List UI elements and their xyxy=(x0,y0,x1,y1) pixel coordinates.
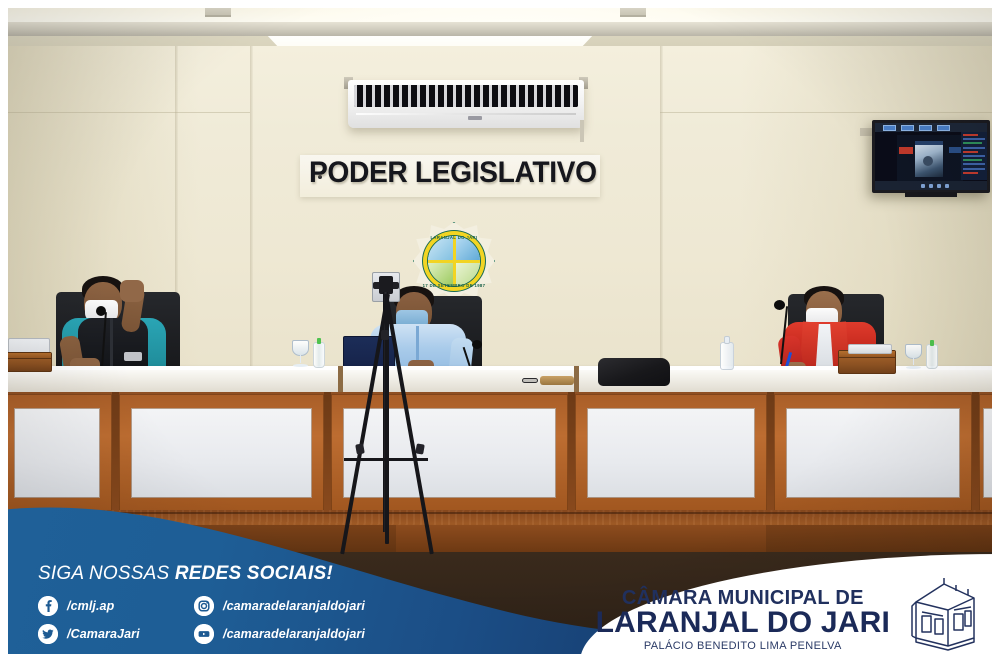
bench-panel xyxy=(979,394,1000,514)
desk-seam-2 xyxy=(574,366,579,394)
wine-glass-center xyxy=(292,340,309,367)
crest-cross-horizontal xyxy=(428,260,480,263)
bench-panel-divider xyxy=(972,392,979,516)
wall-monitor xyxy=(872,120,990,193)
water-bottle-center xyxy=(313,342,325,368)
poder-legislativo-sign: PODER LEGISLATIVO xyxy=(300,155,600,197)
control-button xyxy=(921,184,925,188)
sidebar-line xyxy=(963,172,978,174)
brand-text: CÂMARA MUNICIPAL DE LARANJAL DO JARI PAL… xyxy=(596,588,890,652)
wall-seam-2 xyxy=(660,46,663,396)
air-conditioner xyxy=(348,80,584,128)
brand-block: CÂMARA MUNICIPAL DE LARANJAL DO JARI PAL… xyxy=(596,576,982,652)
bench-panel xyxy=(2,394,112,514)
videocall-name-bar xyxy=(915,141,943,145)
videocall-thumbnail xyxy=(883,125,896,131)
bench-panel-face xyxy=(14,408,100,498)
brand-line-3: PALÁCIO BENEDITO LIMA PENELVA xyxy=(596,640,890,652)
videocall-sidebar xyxy=(961,132,987,180)
glass-stem xyxy=(300,355,302,363)
bottle-cap xyxy=(930,340,934,346)
person-left-hand xyxy=(120,280,144,302)
bottle-cap xyxy=(317,338,321,344)
tripod-leg-lock xyxy=(355,443,365,454)
sidebar-line xyxy=(963,142,982,144)
control-button xyxy=(937,184,941,188)
microphone-right-head xyxy=(774,300,785,310)
twitter-handle: /CamaraJari xyxy=(67,627,140,641)
twitter-icon xyxy=(38,624,58,644)
instagram-handle: /camaradelaranjaldojari xyxy=(223,599,365,613)
person-left-vest-logo xyxy=(124,352,142,361)
hand-sanitizer xyxy=(720,342,734,370)
tripod-leg-spreader xyxy=(344,458,428,461)
videocall-thumbnail xyxy=(901,125,914,131)
social-heading-light: SIGA NOSSAS xyxy=(38,563,175,584)
facebook-handle: /cmlj.ap xyxy=(67,599,114,613)
microphone-left-head xyxy=(96,306,106,316)
bench-panel-divider xyxy=(112,392,119,516)
bench-step-left xyxy=(0,525,396,555)
social-row-1: /cmlj.ap /camaradelaranjaldojari xyxy=(38,596,468,616)
sanitizer-pump xyxy=(724,336,730,344)
bench-panel-divider xyxy=(568,392,575,516)
nameplate-block-left xyxy=(0,352,52,372)
sidebar-line xyxy=(963,147,985,149)
ac-body-seam xyxy=(356,113,576,115)
ac-display-panel xyxy=(468,116,482,120)
bench-panel-divider xyxy=(767,392,774,516)
bench-step-right xyxy=(766,525,1000,555)
wall-band-left xyxy=(0,112,250,113)
instagram-icon xyxy=(194,596,214,616)
bench-panel-divider xyxy=(324,392,331,516)
sign-text: PODER LEGISLATIVO xyxy=(309,156,591,190)
brand-line-2: LARANJAL DO JARI xyxy=(596,608,890,639)
bench-panel-face xyxy=(983,408,996,498)
tripod-column-lock xyxy=(381,330,389,340)
glass-stem xyxy=(913,358,915,366)
social-row-2: /CamaraJari /camaradelaranjaldojari xyxy=(38,624,468,644)
glass-foot xyxy=(293,364,307,367)
bench-panel-face xyxy=(343,408,556,498)
black-bag xyxy=(598,358,670,386)
videocall-thumbnail xyxy=(937,125,950,131)
sidebar-line xyxy=(963,168,985,170)
videocall-person-head xyxy=(923,156,933,166)
desk-seam-1 xyxy=(338,366,343,394)
photo-banner: PODER LEGISLATIVO LARANJAL DO JARI 17 DE… xyxy=(0,0,1000,662)
ac-vent xyxy=(354,85,578,107)
glass-bowl xyxy=(905,344,922,359)
tv-mount-arm xyxy=(905,192,957,197)
sidebar-line xyxy=(963,151,978,153)
sidebar-line xyxy=(963,134,978,136)
youtube-icon xyxy=(194,624,214,644)
facebook-icon xyxy=(38,596,58,616)
bench-base-shadow-line xyxy=(0,512,1000,514)
sidebar-line xyxy=(963,138,985,140)
control-button xyxy=(929,184,933,188)
bench-panel xyxy=(575,394,767,514)
ac-drain-pipe xyxy=(580,120,584,142)
bench-panel-face xyxy=(131,408,312,498)
gavel xyxy=(540,376,574,385)
videocall-tile-right xyxy=(949,147,961,153)
social-links-grid: /cmlj.ap /camaradelaranjaldojari xyxy=(38,596,468,644)
social-link-facebook[interactable]: /cmlj.ap xyxy=(38,596,130,616)
videocall-stage xyxy=(897,135,963,183)
social-link-twitter[interactable]: /CamaraJari xyxy=(38,624,130,644)
sidebar-line xyxy=(963,163,985,165)
control-button xyxy=(945,184,949,188)
bench-panel-face xyxy=(786,408,960,498)
social-heading-bold: REDES SOCIAIS! xyxy=(175,563,333,584)
videocall-tile-left xyxy=(899,147,913,154)
document-tray-right xyxy=(848,344,892,354)
wall-band-right xyxy=(660,112,1000,113)
crest-top-text: LARANJAL DO JARI xyxy=(413,235,495,240)
microphone-center-head xyxy=(472,340,482,349)
wine-glass-right xyxy=(905,344,922,369)
social-media-block: SIGA NOSSAS REDES SOCIAIS! /cmlj.ap xyxy=(38,563,468,644)
videocall-controls xyxy=(875,181,987,190)
bench-panel-face xyxy=(587,408,755,498)
water-bottle-right xyxy=(926,344,938,369)
ceiling-speaker-left xyxy=(205,0,231,17)
tripod-leg-lock xyxy=(415,443,425,454)
sidebar-line xyxy=(963,155,985,157)
youtube-handle: /camaradelaranjaldojari xyxy=(223,627,365,641)
crest-shield xyxy=(427,235,481,287)
bench-panel xyxy=(774,394,972,514)
videocall-toolbar xyxy=(875,123,987,132)
sidebar-line xyxy=(963,159,982,161)
eyeglasses xyxy=(522,378,538,383)
bench-step-center xyxy=(396,525,766,555)
videocall-active-speaker xyxy=(915,141,943,177)
social-heading: SIGA NOSSAS REDES SOCIAIS! xyxy=(38,563,468,585)
videocall-thumbnail xyxy=(919,125,932,131)
building-outline-icon xyxy=(904,576,982,652)
nameplate-block-top xyxy=(1,353,51,359)
glass-bowl xyxy=(292,340,309,356)
monitor-screen xyxy=(875,123,987,190)
social-link-youtube[interactable]: /camaradelaranjaldojari xyxy=(194,624,365,644)
wall-seam-1 xyxy=(250,46,253,396)
ac-louvers xyxy=(354,85,578,107)
ceiling-speaker-right xyxy=(620,0,646,17)
ceiling-beam xyxy=(0,22,1000,36)
social-link-instagram[interactable]: /camaradelaranjaldojari xyxy=(194,596,365,616)
bench-panel xyxy=(119,394,324,514)
glass-foot xyxy=(906,366,920,369)
